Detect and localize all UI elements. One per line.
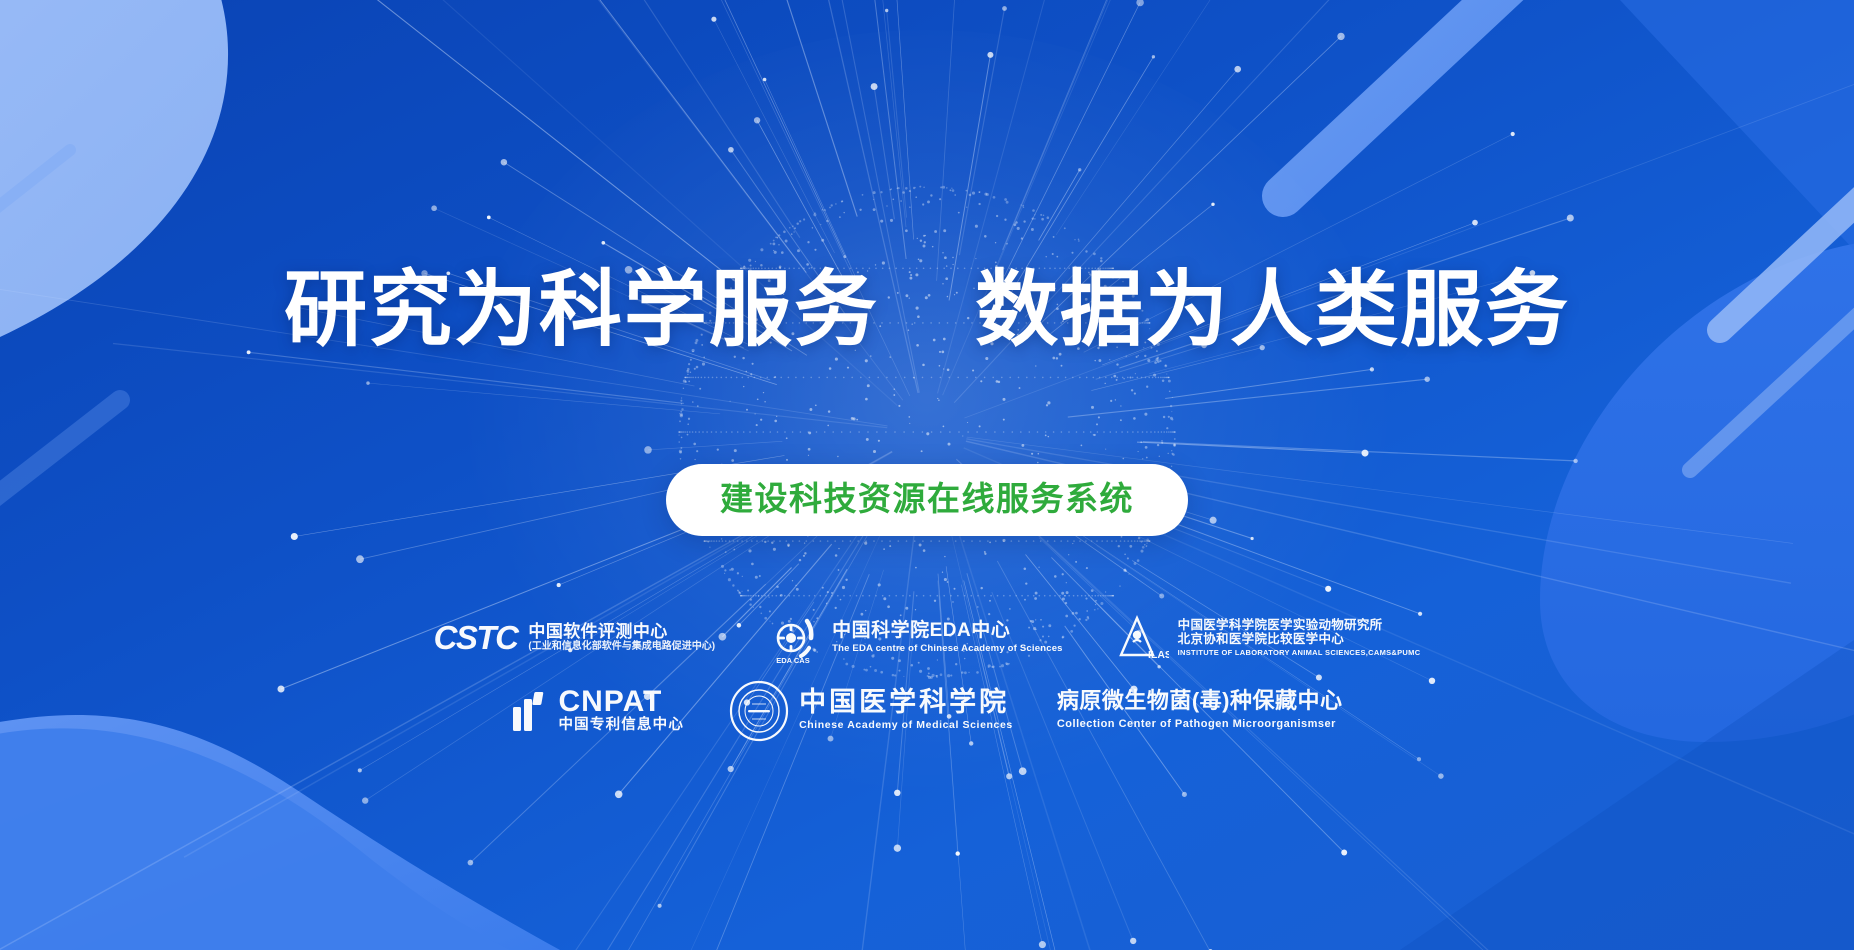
ilas-emblem-icon: ILAS [1115,613,1169,663]
hero-banner: 研究为科学服务 数据为人类服务 建设科技资源在线服务系统 CSTC 中国软件评测… [0,0,1854,950]
eda-cas-emblem-icon: EDA CAS [767,612,823,664]
cams-name-cn: 中国医学科学院 [799,689,1013,716]
cams-seal-icon [728,680,790,742]
cams-text: 中国医学科学院 Chinese Academy of Medical Scien… [799,689,1013,732]
partner-logo-cams[interactable]: 中国医学科学院 Chinese Academy of Medical Scien… [728,680,1013,742]
cnpat-wordmark: CNPAT [558,687,684,717]
ilas-name-cn-line1: 中国医学科学院医学实验动物研究所 [1178,618,1421,632]
cnpat-name-cn: 中国专利信息中心 [558,717,684,733]
partner-logos: CSTC 中国软件评测中心 (工业和信息化部软件与集成电路促进中心) [434,612,1421,742]
ccpm-text: 病原微生物菌(毒)种保藏中心 Collection Center of Path… [1057,690,1343,730]
eda-cas-name-en: The EDA centre of Chinese Academy of Sci… [832,644,1063,655]
partner-logo-ccpm[interactable]: 病原微生物菌(毒)种保藏中心 Collection Center of Path… [1057,690,1343,730]
page-title: 研究为科学服务 数据为人类服务 [284,268,1570,351]
partner-logo-cnpat[interactable]: CNPAT 中国专利信息中心 [511,687,684,733]
partner-logo-ilas[interactable]: ILAS 中国医学科学院医学实验动物研究所 北京协和医学院比较医学中心 INST… [1115,613,1421,663]
cstc-wordmark: CSTC [434,621,520,654]
ilas-name-en: INSTITUTE OF LABORATORY ANIMAL SCIENCES,… [1178,649,1421,657]
cams-name-en: Chinese Academy of Medical Sciences [799,720,1013,732]
ccpm-name-cn: 病原微生物菌(毒)种保藏中心 [1057,690,1343,712]
cnpat-bars-icon [511,689,549,733]
cstc-text: 中国软件评测中心 (工业和信息化部软件与集成电路促进中心) [528,622,715,652]
headline-left: 研究为科学服务 [284,263,879,356]
cnpat-text: CNPAT 中国专利信息中心 [558,687,684,733]
partner-logo-row-1: CSTC 中国软件评测中心 (工业和信息化部软件与集成电路促进中心) [434,612,1421,664]
eda-cas-text: 中国科学院EDA中心 The EDA centre of Chinese Aca… [832,620,1063,655]
build-service-system-button[interactable]: 建设科技资源在线服务系统 [666,464,1188,536]
cstc-name-cn-sub: (工业和信息化部软件与集成电路促进中心) [528,641,715,652]
cstc-name-cn: 中国软件评测中心 [528,622,715,641]
ilas-text: 中国医学科学院医学实验动物研究所 北京协和医学院比较医学中心 INSTITUTE… [1178,618,1421,657]
partner-logo-eda-cas[interactable]: EDA CAS 中国科学院EDA中心 The EDA centre of Chi… [767,612,1063,664]
cta-label: 建设科技资源在线服务系统 [720,480,1134,518]
ccpm-name-en: Collection Center of Pathogen Microorgan… [1057,718,1343,730]
ilas-mark-label: ILAS [1148,649,1169,661]
ilas-name-cn-line2: 北京协和医学院比较医学中心 [1178,632,1421,646]
eda-cas-mark-label: EDA CAS [776,656,809,664]
headline-right: 数据为人类服务 [975,263,1570,356]
banner-content: 研究为科学服务 数据为人类服务 建设科技资源在线服务系统 CSTC 中国软件评测… [0,0,1854,950]
partner-logo-row-2: CNPAT 中国专利信息中心 中国医学科学院 Chin [511,680,1342,742]
eda-cas-name-cn: 中国科学院EDA中心 [832,620,1063,641]
partner-logo-cstc[interactable]: CSTC 中国软件评测中心 (工业和信息化部软件与集成电路促进中心) [434,621,716,654]
